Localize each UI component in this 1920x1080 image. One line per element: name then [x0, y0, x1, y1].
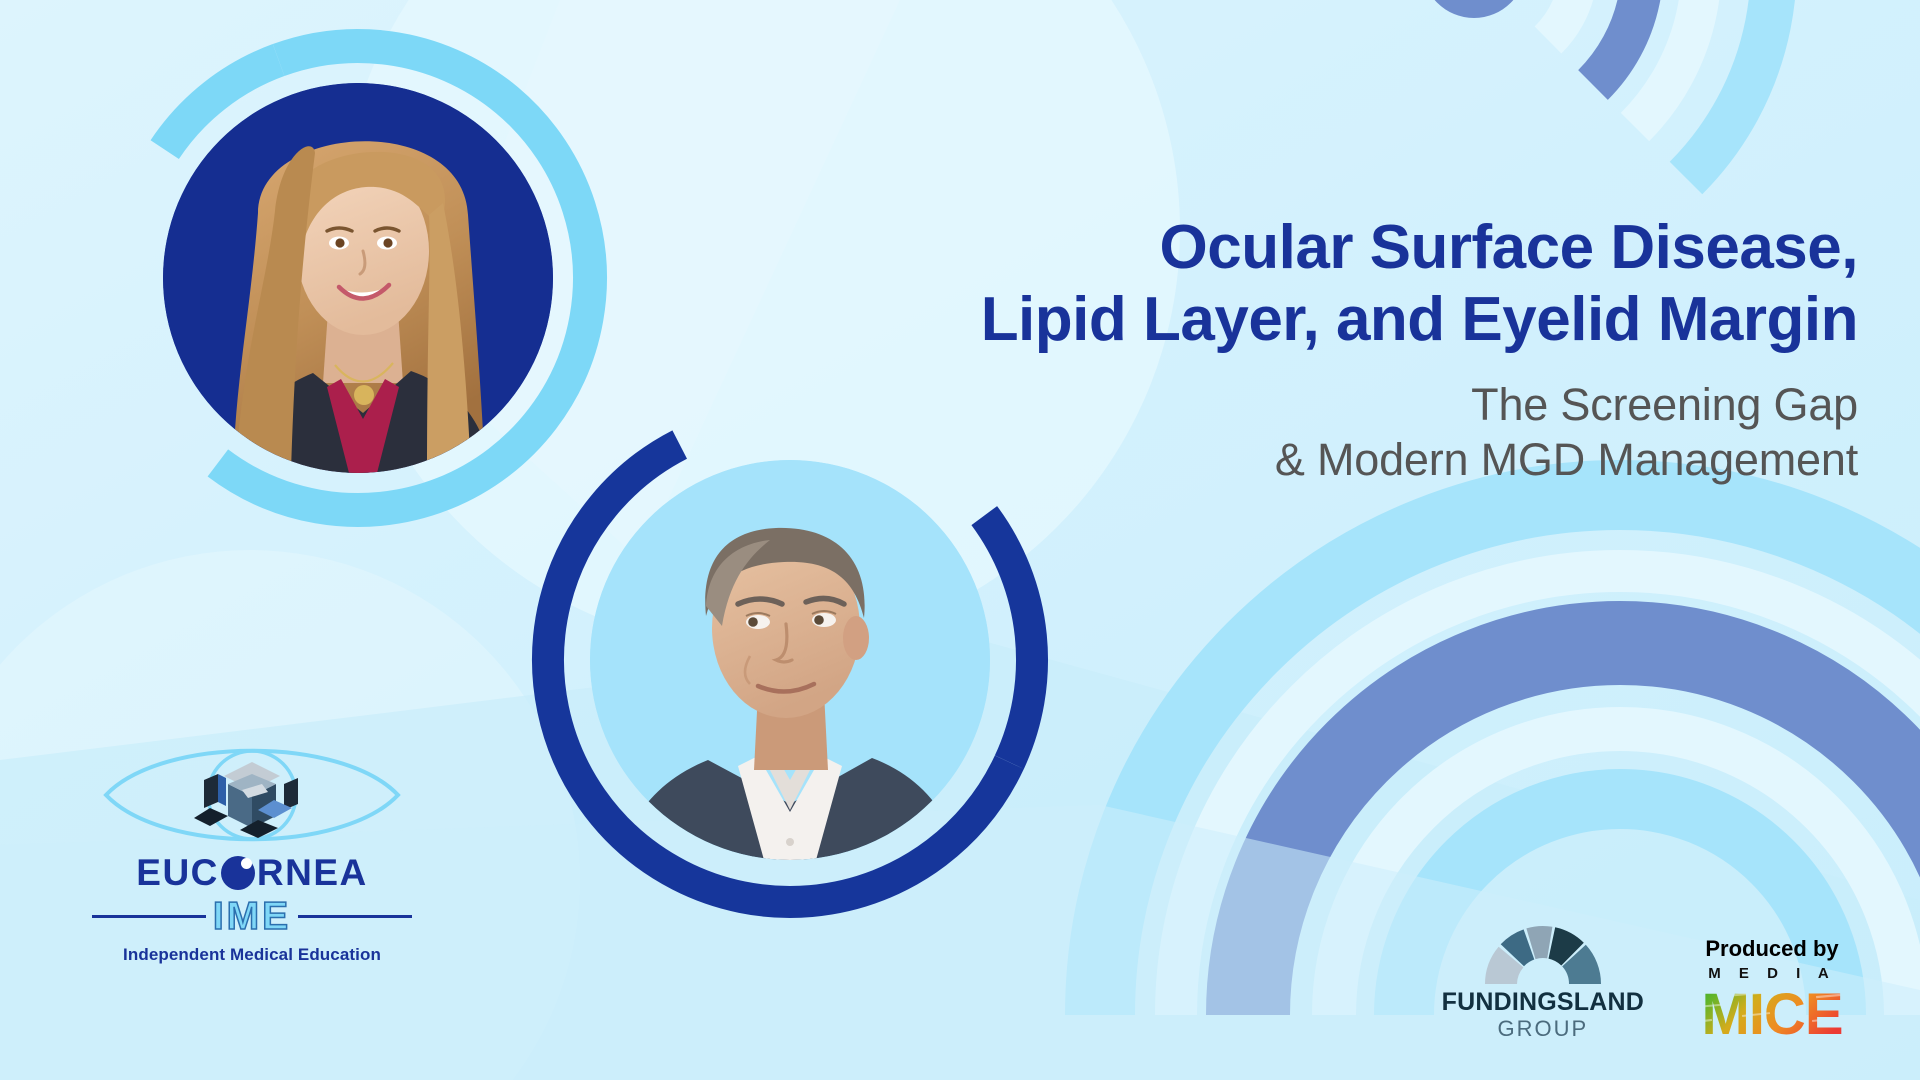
sponsor-logos: FUNDINGSLAND GROUP Produced by M E D I A — [1442, 920, 1862, 1044]
page-subtitle: The Screening Gap & Modern MGD Managemen… — [938, 378, 1858, 488]
svg-text:MICE: MICE — [1702, 982, 1843, 1044]
fundingsland-fan-icon — [1477, 920, 1609, 986]
title-block: Ocular Surface Disease, Lipid Layer, and… — [938, 212, 1858, 488]
eucornea-ime-logo: EUC RNEA IME Independent Medical Educati… — [92, 740, 412, 965]
ime-row: IME — [92, 897, 412, 936]
eucornea-o-letter-icon — [221, 856, 255, 890]
subtitle-line-2: & Modern MGD Management — [1275, 434, 1858, 485]
produced-by-label: Produced by — [1682, 938, 1862, 960]
title-line-2: Lipid Layer, and Eyelid Margin — [981, 285, 1858, 354]
mice-wordmark-icon: MICE — [1682, 982, 1862, 1044]
fundingsland-name: FUNDINGSLAND — [1442, 990, 1644, 1015]
eucornea-wordmark-part1: EUC — [136, 854, 219, 891]
eucornea-wordmark: EUC RNEA — [92, 854, 412, 891]
ime-rule-left — [92, 915, 206, 918]
fundingsland-group-label: GROUP — [1442, 1015, 1644, 1044]
ime-rule-right — [298, 915, 412, 918]
fundingsland-group-logo: FUNDINGSLAND GROUP — [1442, 920, 1644, 1044]
female-speaker-photo — [163, 83, 553, 473]
ime-label: IME — [213, 897, 291, 936]
eucornea-tagline: Independent Medical Education — [92, 945, 412, 965]
male-speaker-photo — [590, 460, 990, 860]
page-title: Ocular Surface Disease, Lipid Layer, and… — [938, 212, 1858, 356]
eucornea-wordmark-part2: RNEA — [257, 854, 368, 891]
media-mice-logo: Produced by M E D I A — [1682, 938, 1862, 1044]
media-label: M E D I A — [1682, 966, 1862, 981]
subtitle-line-1: The Screening Gap — [1471, 379, 1858, 430]
title-line-1: Ocular Surface Disease, — [1160, 213, 1858, 282]
eye-icon — [92, 740, 412, 850]
